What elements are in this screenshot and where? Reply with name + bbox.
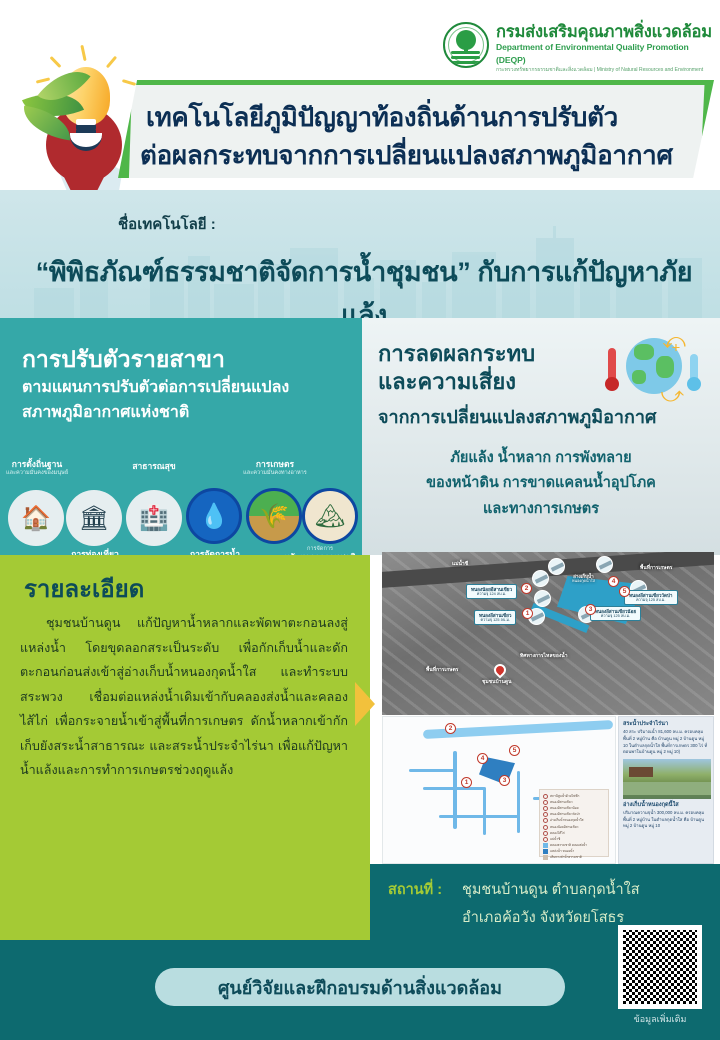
- poster-footer: ศูนย์วิจัยและฝึกอบรมด้านสิ่งแวดล้อม: [0, 940, 720, 1040]
- sector-item-settlement[interactable]: 🏠: [8, 490, 64, 546]
- sector-panel-heading: การปรับตัวรายสาขา: [22, 342, 225, 378]
- photo-bubble-icon: [548, 558, 565, 575]
- city-tourism-icon: 🏛: [66, 490, 122, 546]
- sector-sublabel-0: และความมั่นคงของมนุษย์: [6, 470, 68, 477]
- tech-name-label: ชื่อเทคโนโลยี :: [118, 212, 216, 236]
- details-panel: รายละเอียด ชุมชนบ้านดูน แก้ปัญหาน้ำหลากแ…: [0, 555, 370, 940]
- village-houses-icon: 🏠: [8, 490, 64, 546]
- annotation-number-2: 2: [521, 583, 532, 594]
- aerial-label-3: ชุมชนบ้านดูน: [482, 678, 512, 686]
- aerial-label-2: ทิศทางการไหลของน้ำ: [520, 652, 568, 660]
- poster-header: กรมส่งเสริมคุณภาพสิ่งแวดล้อม Department …: [0, 0, 720, 190]
- aerial-annotation-3: หนองอีสานเขียวน้อย ความจุ 125 ลบ.ม.: [590, 606, 641, 621]
- thermometer-hot-icon: [608, 348, 616, 382]
- details-heading: รายละเอียด: [24, 569, 144, 608]
- org-name-english: Department of Environmental Quality Prom…: [496, 41, 720, 67]
- water-tap-river-icon: 💧: [186, 488, 242, 544]
- sector-item-agriculture[interactable]: 🌾: [246, 488, 302, 544]
- aerial-label-1: พื้นที่การเกษตร: [426, 666, 459, 674]
- aerial-label-0: พื้นที่การเกษตร: [640, 564, 673, 572]
- risk-line-3: และทางการเกษตร: [372, 497, 710, 522]
- sector-item-health[interactable]: 🏥: [126, 490, 182, 546]
- annotation-number-3: 3: [585, 604, 596, 615]
- legend-item-6: คลองไส้ไก่: [550, 831, 565, 836]
- legend-item-1: หนองอีสานเขียว: [550, 800, 573, 805]
- farm-tractor-icon: 🌾: [246, 488, 302, 544]
- photo-bubble-icon: [534, 590, 551, 607]
- aerial-annotation-1: หนองอีสานเขียว ความจุ 125 ลบ.ม.: [474, 610, 516, 625]
- qr-code-icon[interactable]: [618, 925, 702, 1009]
- aerial-annotation-5: หนองอีสานเขียววัดป่า ความจุ 125 ลบ.ม.: [624, 590, 678, 605]
- legend-item-9: แหล่งน้ำ หนองน้ำ: [550, 849, 574, 854]
- legend-item-2: หนองอีสานเขียวน้อย: [550, 806, 578, 811]
- page-title-line1: เทคโนโลยีภูมิปัญญาท้องถิ่นด้านการปรับตัว: [146, 97, 618, 138]
- legend-item-7: แม่น้ำชี: [550, 837, 560, 842]
- watershed-map[interactable]: 4 1 3 2 5 สถานีสูบน้ำด้วยไฟฟ้า หนองอีสาน…: [382, 716, 616, 864]
- poster-title-banner: เทคโนโลยีภูมิปัญญาท้องถิ่นด้านการปรับตัว…: [118, 80, 714, 178]
- sector-label-4: การเกษตร: [232, 460, 318, 470]
- legend-item-0: สถานีสูบน้ำด้วยไฟฟ้า: [550, 794, 579, 799]
- sector-icons-row: 🏠 การตั้งถิ่นฐาน และความมั่นคงของมนุษย์ …: [6, 464, 358, 550]
- annotation-sub-5: ความจุ 125 ลบ.ม.: [629, 598, 673, 602]
- cycle-arrow-bottom-icon: ⤻: [660, 382, 684, 408]
- technology-name-band: ชื่อเทคโนโลยี : “พิพิธภัณฑ์ธรรมชาติจัดกา…: [0, 190, 720, 318]
- sector-item-tourism[interactable]: 🏛: [66, 490, 122, 546]
- legend-item-5: หนองน้อยอีสานเขียว: [550, 825, 578, 830]
- sector-label-0: การตั้งถิ่นฐาน: [6, 460, 68, 470]
- mountain-nature-icon: 🏔: [302, 488, 358, 544]
- annotation-sub-2: ความจุ 124 ลบ.ม.: [471, 592, 512, 596]
- sector-label-2: สาธารณสุข: [114, 462, 194, 472]
- mitigation-subheading: จากการเปลี่ยนแปลงสภาพภูมิอากาศ: [378, 402, 656, 431]
- sector-item-natural-resources[interactable]: 🏔: [302, 488, 358, 544]
- center-name-pill[interactable]: ศูนย์วิจัยและฝึกอบรมด้านสิ่งแวดล้อม: [155, 968, 565, 1006]
- side-note-2-title: อ่างเก็บน้ำหนองกุดนี้ใส: [623, 802, 709, 809]
- tech-name-value: “พิพิธภัณฑ์ธรรมชาติจัดการน้ำชุมชน” กับกา…: [24, 250, 704, 318]
- mitigation-heading-line1: การลดผลกระทบ: [378, 340, 535, 368]
- annotation-sub-3: ความจุ 125 ลบ.ม.: [595, 614, 636, 618]
- risk-line-1: ภัยแล้ง น้ำหลาก การพังทลาย: [372, 446, 710, 471]
- aerial-label-river: แม่น้ำชี: [452, 560, 468, 568]
- thermometer-cold-icon: [690, 354, 698, 382]
- mitigation-panel: การลดผลกระทบ และความเสี่ยง จากการเปลี่ยน…: [362, 318, 720, 555]
- side-note-2-body: ปริมาณความจุน้ำ 300,000 ลบ.ม. ครอบคลุมพื…: [623, 810, 709, 830]
- legend-item-4: อ่างเก็บน้ำหนองกุดน้ำใส: [550, 818, 584, 823]
- cycle-arrow-top-icon: ⤽: [662, 328, 686, 354]
- legend-item-10: เส้นทางลำน้ำธรรมชาติ: [550, 855, 582, 860]
- risk-line-2: ของหน้าดิน การขาดแคลนน้ำอุปโภค: [372, 471, 710, 496]
- deqp-tree-water-seal-icon: [443, 22, 489, 68]
- ministry-line: กระทรวงทรัพยากรธรรมชาติและสิ่งแวดล้อม | …: [496, 67, 720, 75]
- details-body-text: ชุมชนบ้านดูน แก้ปัญหาน้ำหลากและพัดพาตะกอ…: [20, 611, 348, 783]
- poster-root: กรมส่งเสริมคุณภาพสิ่งแวดล้อม Department …: [0, 0, 720, 1040]
- reservoir-photo: [623, 759, 711, 799]
- location-label: สถานที่ :: [388, 878, 442, 901]
- org-name-thai: กรมส่งเสริมคุณภาพสิ่งแวดล้อม: [496, 23, 720, 41]
- qr-caption: ข้อมูลเพิ่มเติม: [618, 1012, 702, 1026]
- side-note-1-body: 40 สระ ปริมาณน้ำ 81,600 ลบ.ม. ครอบคลุมพื…: [623, 729, 709, 756]
- legend-item-3: หนองอีสานเขียววัดป่า: [550, 812, 580, 817]
- photo-bubble-icon: [596, 556, 613, 573]
- photo-bubble-icon: [532, 570, 549, 587]
- location-line1: ชุมชนบ้านดูน ตำบลกุดน้ำใส: [462, 878, 640, 901]
- annotation-sub-1: ความจุ 125 ลบ.ม.: [479, 618, 511, 622]
- aerial-annotation-2: หนองน้อยอีสานเขียว ความจุ 124 ลบ.ม.: [466, 584, 517, 599]
- details-arrow-icon: [355, 682, 375, 726]
- aerial-annotation-4: อ่างเก็บน้ำ หนองกุดน้ำใส: [568, 572, 599, 585]
- annotation-number-1: 1: [522, 608, 533, 619]
- hospital-ambulance-icon: 🏥: [126, 490, 182, 546]
- sector-item-water[interactable]: 💧: [186, 488, 242, 544]
- sector-adaptation-panel: การปรับตัวรายสาขา ตามแผนการปรับตัวต่อการ…: [0, 318, 362, 555]
- sector-panel-subheading: ตามแผนการปรับตัวต่อการเปลี่ยนแปลง สภาพภู…: [22, 376, 352, 426]
- side-notes-column: สระน้ำประจำไร่นา 40 สระ ปริมาณน้ำ 81,600…: [618, 716, 714, 864]
- legend-item-8: คลองธรรมชาติ คลองส่งน้ำ: [550, 843, 587, 848]
- aerial-photo[interactable]: แม่น้ำชี พื้นที่การเกษตร พื้นที่การเกษตร…: [382, 552, 714, 715]
- page-title-line2: ต่อผลกระทบจากการเปลี่ยนแปลงสภาพภูมิอากาศ: [140, 135, 673, 176]
- annotation-number-5: 5: [619, 586, 630, 597]
- map-legend: สถานีสูบน้ำด้วยไฟฟ้า หนองอีสานเขียว หนอง…: [539, 789, 609, 857]
- side-note-1-title: สระน้ำประจำไร่นา: [623, 721, 709, 728]
- annotation-number-4: 4: [608, 576, 619, 587]
- sector-sublabel-4: และความมั่นคงทางอาหาร: [232, 470, 318, 477]
- location-line2: อำเภอค้อวัง จังหวัดยโสธร: [462, 906, 624, 929]
- mitigation-heading-line2: และความเสี่ยง: [378, 368, 535, 396]
- annotation-sub-4: หนองกุดน้ำใส: [572, 579, 595, 583]
- deqp-logo: กรมส่งเสริมคุณภาพสิ่งแวดล้อม Department …: [443, 22, 720, 75]
